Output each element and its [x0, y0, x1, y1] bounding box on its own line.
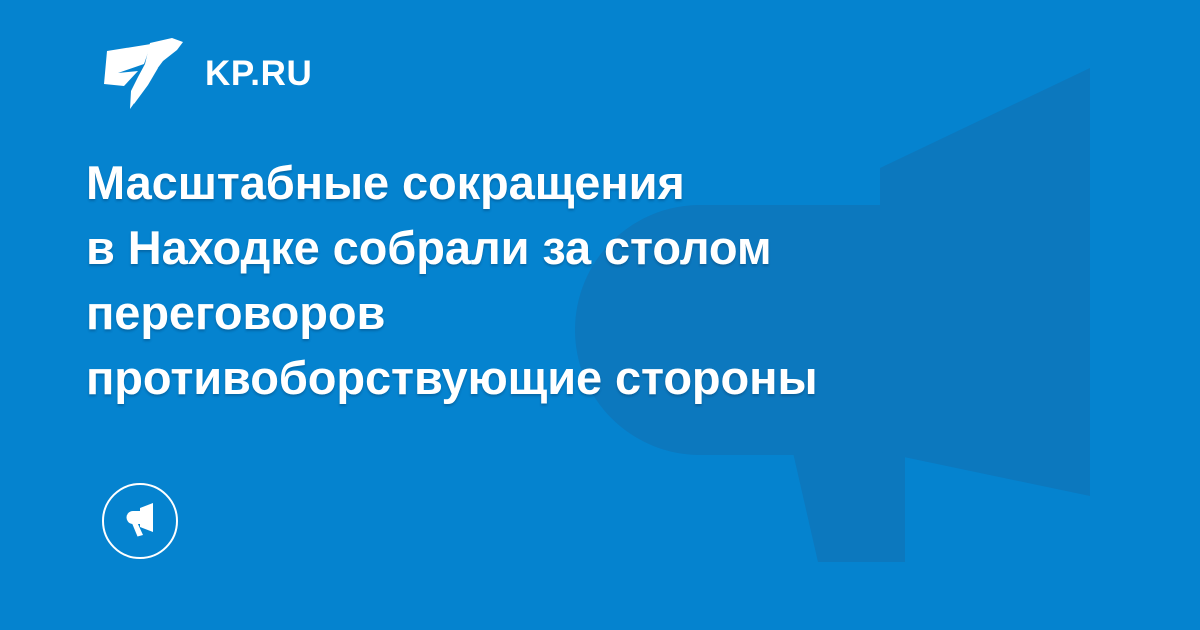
brand-logo[interactable]: KP.RU: [104, 38, 312, 110]
megaphone-icon: [120, 501, 160, 541]
headline-line-2: в Находке собрали за столом: [86, 215, 1096, 280]
headline-line-3: переговоров: [86, 280, 1096, 345]
brand-name: KP.RU: [205, 56, 312, 93]
megaphone-badge[interactable]: [102, 483, 178, 559]
page-title: Масштабные сокращения в Находке собрали …: [86, 150, 1096, 410]
headline-line-4: противоборствующие стороны: [86, 345, 1096, 410]
swallow-bird-logo-icon: [104, 37, 186, 111]
kp-ru-preview-card: KP.RU Масштабные сокращения в Находке со…: [0, 0, 1200, 630]
headline-line-1: Масштабные сокращения: [86, 150, 1096, 215]
